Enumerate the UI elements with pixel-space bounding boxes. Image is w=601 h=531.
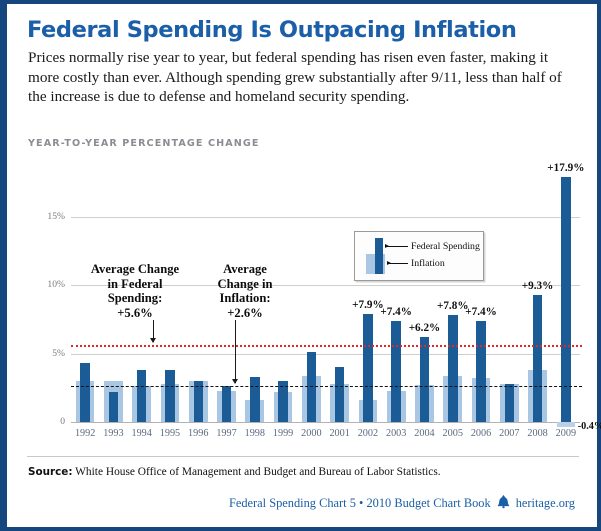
source-label: Source: [28,466,73,478]
annotation-line: Spending: [79,291,191,306]
bar-federal-spending-1997 [222,386,232,422]
chart-card: Federal Spending Is Outpacing Inflation … [0,0,601,531]
bar-federal-spending-2007 [505,384,515,422]
attribution-text: Federal Spending Chart 5 • 2010 Budget C… [229,496,491,511]
footer-divider [27,456,579,457]
bar-federal-spending-1993 [109,392,119,422]
legend-swatch-federal-spending [375,238,383,274]
liberty-bell-icon [496,494,511,513]
value-label-inflation-2009: -0.4% [578,421,601,432]
x-axis-tick-2002: 2002 [354,428,382,439]
value-label-federal-spending-2004: +6.2% [397,322,451,334]
annotation-line: Average [199,262,291,277]
bar-federal-spending-2003 [391,321,401,422]
y-axis-tick-15: 15% [39,211,65,222]
x-axis-tick-2007: 2007 [495,428,523,439]
bar-federal-spending-1994 [137,370,147,422]
gridline-0 [71,422,580,423]
annotation-average-change-inflation: AverageChange inInflation:+2.6% [199,262,291,320]
x-axis-tick-2000: 2000 [297,428,325,439]
value-label-federal-spending-2009: +17.9% [539,162,593,174]
annotation-line: Change in [199,277,291,292]
x-axis-tick-1997: 1997 [212,428,240,439]
y-axis-tick-5: 5% [39,348,65,359]
annotation-line: +2.6% [199,306,291,321]
y-axis-tick-10: 10% [39,279,65,290]
bar-inflation-2009 [557,422,576,427]
x-axis-tick-2004: 2004 [410,428,438,439]
bar-federal-spending-2006 [476,321,486,422]
legend-arrow-federal-spending [386,246,408,247]
gridline-15 [71,217,580,218]
site-link[interactable]: heritage.org [516,496,575,511]
legend-label-federal-spending: Federal Spending [411,241,480,252]
source-note: Source: White House Office of Management… [28,466,441,478]
annotation-arrow-line-average-change-inflation [235,320,236,383]
annotation-arrowhead-average-change-federal-spending [150,338,156,343]
x-axis-tick-1999: 1999 [269,428,297,439]
footer-attribution: Federal Spending Chart 5 • 2010 Budget C… [229,494,575,513]
x-axis-tick-2008: 2008 [523,428,551,439]
legend-arrowhead-federal-spending [385,244,389,248]
bar-federal-spending-2002 [363,314,373,422]
x-axis-tick-2005: 2005 [439,428,467,439]
annotation-line: Average Change [79,262,191,277]
y-axis-tick-0: 0 [39,416,65,427]
value-label-federal-spending-2008: +9.3% [510,280,564,292]
reference-line-avg-spending-line [71,345,582,347]
x-axis-tick-1992: 1992 [71,428,99,439]
x-axis-tick-1994: 1994 [128,428,156,439]
x-axis-tick-1998: 1998 [241,428,269,439]
x-axis-tick-2009: 2009 [552,428,580,439]
annotation-arrowhead-average-change-inflation [232,379,238,384]
value-label-federal-spending-2006: +7.4% [454,306,508,318]
chart-card-inner: Federal Spending Is Outpacing Inflation … [7,4,597,527]
legend-arrowhead-inflation [387,261,391,265]
bar-federal-spending-2008 [533,295,543,422]
x-axis-tick-1993: 1993 [99,428,127,439]
bar-federal-spending-1992 [80,363,90,422]
annotation-line: in Federal [79,277,191,292]
reference-line-avg-inflation-line [71,386,582,387]
x-axis-tick-2003: 2003 [382,428,410,439]
x-axis-tick-2006: 2006 [467,428,495,439]
legend-label-inflation: Inflation [411,258,445,269]
bar-federal-spending-2001 [335,367,345,422]
x-axis-tick-2001: 2001 [326,428,354,439]
bar-federal-spending-1998 [250,377,260,422]
x-axis-tick-1995: 1995 [156,428,184,439]
chart-plot-area: 05%10%15%1992199319941995199619971998199… [7,4,597,524]
x-axis-tick-1996: 1996 [184,428,212,439]
chart-legend: Federal Spending Inflation [354,231,484,281]
annotation-line: Inflation: [199,291,291,306]
value-label-federal-spending-2003: +7.4% [369,306,423,318]
annotation-line: +5.6% [79,306,191,321]
bar-federal-spending-2009 [561,177,571,422]
annotation-average-change-federal-spending: Average Changein FederalSpending:+5.6% [79,262,191,320]
legend-arrow-inflation [388,263,408,264]
gridline-5 [71,354,580,355]
bar-federal-spending-2004 [420,337,430,422]
source-text: White House Office of Management and Bud… [75,466,440,478]
bar-federal-spending-1995 [165,370,175,422]
